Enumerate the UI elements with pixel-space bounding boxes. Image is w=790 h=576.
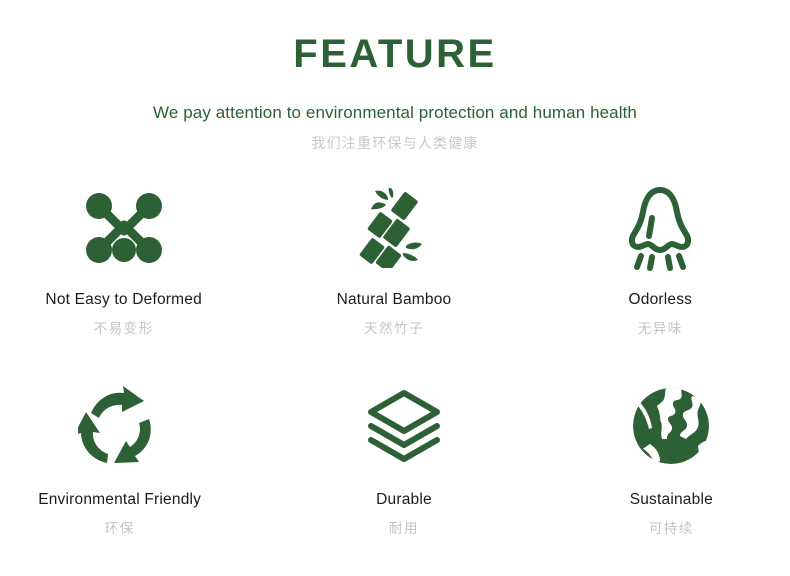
feature-row-2: Environmental Friendly 环保 Durable 耐用 [0,374,790,538]
feature-label-cn: 无异味 [638,321,683,337]
feature-row-1: Not Easy to Deformed 不易变形 [0,178,790,374]
feature-grid: Not Easy to Deformed 不易变形 [0,178,790,538]
section-header: FEATURE We pay attention to environmenta… [0,34,790,152]
feature-item-environmental-friendly: Environmental Friendly 环保 [0,374,251,538]
feature-label-cn: 环保 [105,521,135,537]
feature-item-natural-bamboo: Natural Bamboo 天然竹子 [262,178,525,374]
feature-label-en: Durable [376,490,432,509]
feature-label-en: Natural Bamboo [337,290,452,309]
nose-icon [623,178,697,278]
feature-label-cn: 不易变形 [94,321,154,337]
molecule-x-icon [85,178,163,278]
feature-label-cn: 可持续 [649,521,694,537]
globe-leaf-icon [630,374,712,478]
feature-label-en: Odorless [629,290,693,309]
feature-item-durable: Durable 耐用 [272,374,535,538]
feature-item-sustainable: Sustainable 可持续 [540,374,790,538]
layers-stack-icon [364,374,444,478]
feature-label-en: Sustainable [630,490,713,509]
feature-label-en: Not Easy to Deformed [45,290,201,309]
feature-item-not-easy-to-deformed: Not Easy to Deformed 不易变形 [0,178,255,374]
feature-label-cn: 耐用 [389,521,419,537]
bamboo-icon [358,178,430,278]
page-title: FEATURE [0,34,790,74]
feature-section: FEATURE We pay attention to environmenta… [0,0,790,576]
recycle-icon [78,374,162,478]
feature-label-cn: 天然竹子 [364,321,424,337]
subtitle-chinese: 我们注重环保与人类健康 [0,135,790,152]
feature-item-odorless: Odorless 无异味 [529,178,790,374]
subtitle-english: We pay attention to environmental protec… [0,103,790,123]
feature-label-en: Environmental Friendly [38,490,201,509]
